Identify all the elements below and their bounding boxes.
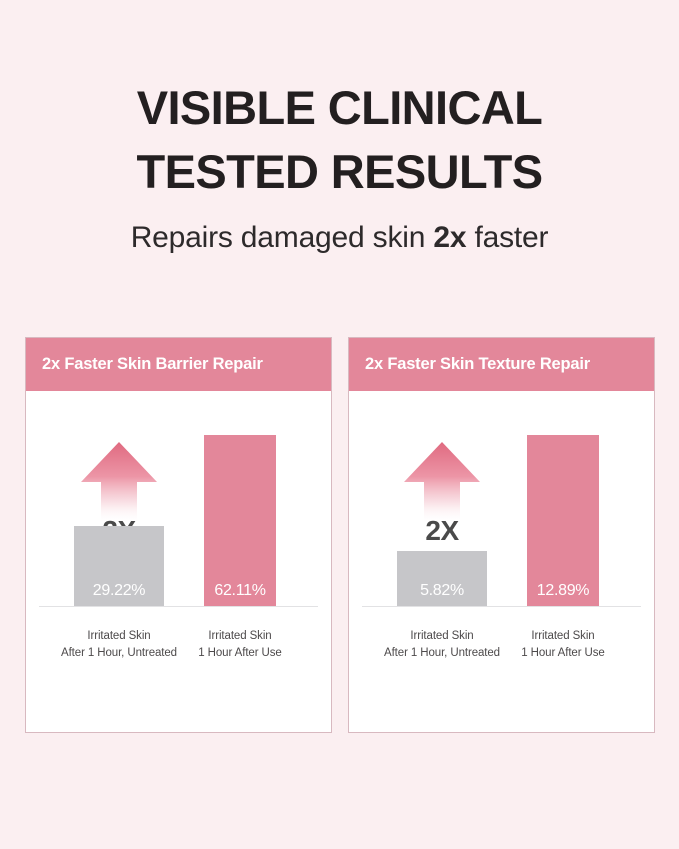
bar-untreated: 5.82%	[397, 551, 487, 606]
headline-line-1: VISIBLE CLINICAL	[0, 76, 679, 140]
subtitle-text-after: faster	[466, 221, 548, 254]
bar-caption-after-use-line1: Irritated Skin	[493, 628, 633, 644]
bar-value-untreated: 29.22%	[74, 582, 164, 600]
subtitle-text-before: Repairs damaged skin	[131, 221, 434, 254]
card-body-skin-barrier-repair: 2X 29.22% Irritated Skin After 1 Hour, U…	[26, 391, 331, 732]
bar-caption-untreated-line2: After 1 Hour, Untreated	[49, 645, 189, 661]
chart-baseline-axis	[362, 606, 641, 607]
card-header-skin-barrier-repair: 2x Faster Skin Barrier Repair	[26, 338, 331, 391]
promotional-results-page: VISIBLE CLINICAL TESTED RESULTS Repairs …	[0, 0, 679, 849]
bar-untreated: 29.22%	[74, 526, 164, 606]
bar-caption-untreated-line1: Irritated Skin	[372, 628, 512, 644]
card-skin-texture-repair: 2x Faster Skin Texture Repair	[348, 337, 655, 733]
bar-value-after-use: 12.89%	[527, 582, 599, 600]
bar-value-untreated: 5.82%	[397, 582, 487, 600]
results-card-group: 2x Faster Skin Barrier Repair	[25, 337, 655, 733]
bar-caption-after-use-line2: 1 Hour After Use	[170, 645, 310, 661]
bar-after-use: 12.89%	[527, 435, 599, 606]
bar-caption-untreated-line1: Irritated Skin	[49, 628, 189, 644]
bar-caption-untreated: Irritated Skin After 1 Hour, Untreated	[49, 628, 189, 661]
page-title: VISIBLE CLINICAL TESTED RESULTS	[0, 76, 679, 204]
bar-caption-after-use: Irritated Skin 1 Hour After Use	[493, 628, 633, 661]
multiplier-label: 2X	[402, 515, 482, 547]
card-skin-barrier-repair: 2x Faster Skin Barrier Repair	[25, 337, 332, 733]
chart-baseline-axis	[39, 606, 318, 607]
bar-caption-after-use: Irritated Skin 1 Hour After Use	[170, 628, 310, 661]
bar-caption-untreated: Irritated Skin After 1 Hour, Untreated	[372, 628, 512, 661]
bar-value-after-use: 62.11%	[204, 582, 276, 600]
headline-line-2: TESTED RESULTS	[0, 140, 679, 204]
bar-chart-skin-texture-repair: 2X 5.82% Irritated Skin After 1 Hour, Un…	[349, 391, 654, 732]
card-body-skin-texture-repair: 2X 5.82% Irritated Skin After 1 Hour, Un…	[349, 391, 654, 732]
page-subtitle: Repairs damaged skin 2x faster	[0, 220, 679, 256]
growth-arrow-icon	[79, 440, 159, 524]
growth-arrow-icon	[402, 440, 482, 524]
bar-after-use: 62.11%	[204, 435, 276, 606]
bar-caption-after-use-line1: Irritated Skin	[170, 628, 310, 644]
bar-caption-untreated-line2: After 1 Hour, Untreated	[372, 645, 512, 661]
bar-caption-after-use-line2: 1 Hour After Use	[493, 645, 633, 661]
card-header-skin-texture-repair: 2x Faster Skin Texture Repair	[349, 338, 654, 391]
subtitle-emphasis: 2x	[433, 221, 466, 254]
bar-chart-skin-barrier-repair: 2X 29.22% Irritated Skin After 1 Hour, U…	[26, 391, 331, 732]
